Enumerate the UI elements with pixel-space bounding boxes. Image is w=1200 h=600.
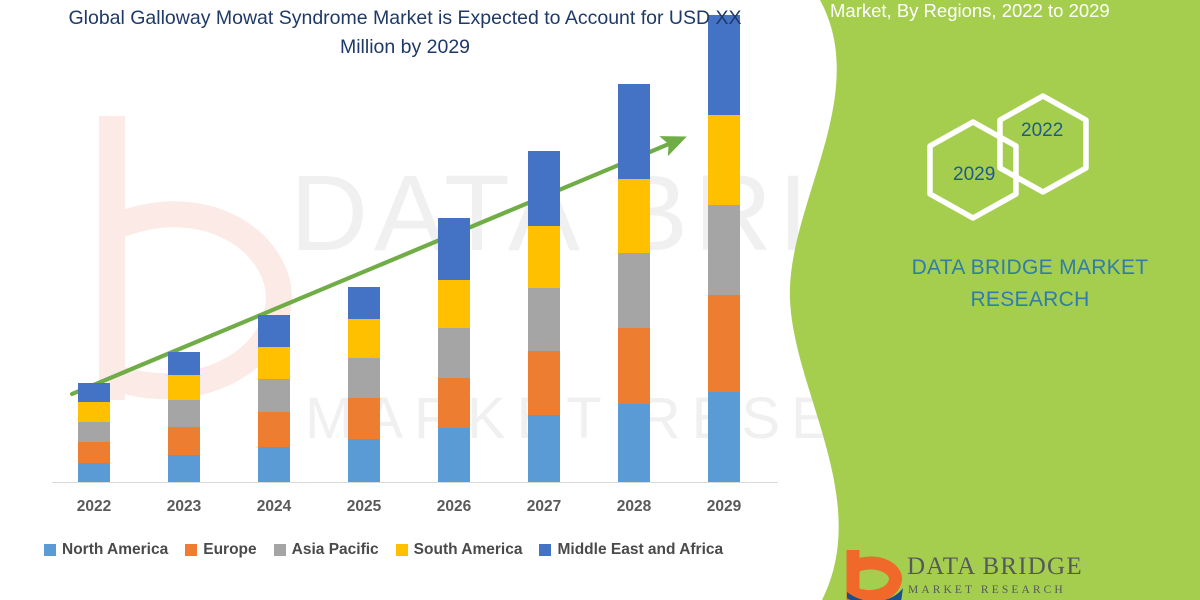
bar-segment[interactable]: [708, 392, 740, 482]
bar-segment[interactable]: [528, 351, 560, 415]
legend-label: Europe: [203, 541, 256, 559]
bar-segment[interactable]: [168, 455, 200, 482]
bar-segment[interactable]: [618, 404, 650, 482]
x-tick-2023: 2023: [149, 498, 219, 516]
x-tick-2027: 2027: [509, 498, 579, 516]
x-tick-2024: 2024: [239, 498, 309, 516]
bar-group-2022[interactable]: [78, 383, 110, 482]
bar-segment[interactable]: [168, 427, 200, 455]
bar-segment[interactable]: [258, 447, 290, 482]
bar-segment[interactable]: [258, 315, 290, 347]
legend-item[interactable]: Middle East and Africa: [539, 541, 723, 559]
hexagon-outline-icon: [925, 92, 1110, 222]
bar-segment[interactable]: [78, 442, 110, 463]
bar-segment[interactable]: [78, 383, 110, 402]
legend-swatch-icon: [539, 544, 551, 556]
bar-segment[interactable]: [348, 319, 380, 358]
legend-label: North America: [62, 541, 168, 559]
legend-swatch-icon: [274, 544, 286, 556]
year-hexagon-badges: 2022 2029: [925, 92, 1110, 222]
legend-label: South America: [414, 541, 523, 559]
bar-segment[interactable]: [438, 218, 470, 280]
bar-segment[interactable]: [348, 287, 380, 319]
stacked-bar-chart: 20222023202420252026202720282029: [0, 0, 800, 600]
bar-segment[interactable]: [708, 205, 740, 295]
bar-segment[interactable]: [78, 422, 110, 442]
logo-wordmark: DATA BRIDGE: [907, 553, 1083, 581]
legend-swatch-icon: [396, 544, 408, 556]
bar-group-2025[interactable]: [348, 287, 380, 482]
bar-group-2023[interactable]: [168, 352, 200, 482]
bar-group-2029[interactable]: [708, 15, 740, 482]
infographic-canvas: DATA BRIDGE MARKET RESEARCH Global Gallo…: [0, 0, 1200, 600]
x-tick-2025: 2025: [329, 498, 399, 516]
bar-segment[interactable]: [528, 288, 560, 351]
page-title: Global Galloway Mowat Syndrome Market is…: [55, 0, 755, 62]
x-tick-2029: 2029: [689, 498, 759, 516]
legend-swatch-icon: [44, 544, 56, 556]
bar-segment[interactable]: [528, 226, 560, 288]
bar-segment[interactable]: [618, 328, 650, 404]
x-tick-2022: 2022: [59, 498, 129, 516]
brand-line-2: RESEARCH: [880, 284, 1180, 316]
bar-segment[interactable]: [168, 375, 200, 400]
logo-tagline: MARKET RESEARCH: [908, 584, 1066, 596]
bar-segment[interactable]: [78, 463, 110, 482]
bar-series-container: [0, 0, 800, 482]
bar-segment[interactable]: [438, 328, 470, 378]
bar-segment[interactable]: [438, 428, 470, 482]
bar-group-2024[interactable]: [258, 315, 290, 482]
brand-name: DATA BRIDGE MARKET RESEARCH: [880, 252, 1180, 316]
legend-label: Asia Pacific: [292, 541, 379, 559]
databridge-logo: DATA BRIDGE MARKET RESEARCH: [845, 548, 1175, 600]
bar-group-2028[interactable]: [618, 84, 650, 482]
bar-segment[interactable]: [348, 398, 380, 440]
bar-segment[interactable]: [528, 415, 560, 482]
legend-label: Middle East and Africa: [557, 541, 723, 559]
bar-segment[interactable]: [618, 179, 650, 253]
x-axis-line: [52, 482, 778, 483]
hex-badge-2022: 2022: [1021, 120, 1063, 142]
bar-segment[interactable]: [618, 84, 650, 179]
bar-segment[interactable]: [708, 115, 740, 205]
bar-segment[interactable]: [438, 378, 470, 429]
panel-heading: Market, By Regions, 2022 to 2029: [830, 0, 1190, 24]
bar-segment[interactable]: [168, 400, 200, 427]
legend-item[interactable]: Europe: [185, 541, 256, 559]
bar-segment[interactable]: [258, 347, 290, 379]
bar-segment[interactable]: [168, 352, 200, 375]
x-tick-2026: 2026: [419, 498, 489, 516]
bar-group-2027[interactable]: [528, 151, 560, 482]
chart-legend: North AmericaEuropeAsia PacificSouth Ame…: [44, 539, 723, 561]
legend-item[interactable]: South America: [396, 541, 523, 559]
bar-group-2026[interactable]: [438, 218, 470, 482]
bar-segment[interactable]: [78, 402, 110, 422]
legend-item[interactable]: North America: [44, 541, 168, 559]
x-axis-tick-labels: 20222023202420252026202720282029: [0, 498, 800, 522]
databridge-b-mark-icon: [845, 548, 905, 600]
brand-line-1: DATA BRIDGE MARKET: [880, 252, 1180, 284]
legend-swatch-icon: [185, 544, 197, 556]
bar-segment[interactable]: [258, 412, 290, 447]
bar-segment[interactable]: [348, 358, 380, 398]
x-tick-2028: 2028: [599, 498, 669, 516]
legend-item[interactable]: Asia Pacific: [274, 541, 379, 559]
bar-segment[interactable]: [258, 379, 290, 412]
hex-badge-2029: 2029: [953, 164, 995, 186]
bar-segment[interactable]: [348, 439, 380, 482]
bar-segment[interactable]: [708, 295, 740, 393]
bar-segment[interactable]: [438, 280, 470, 328]
bar-segment[interactable]: [528, 151, 560, 226]
bar-segment[interactable]: [618, 253, 650, 328]
